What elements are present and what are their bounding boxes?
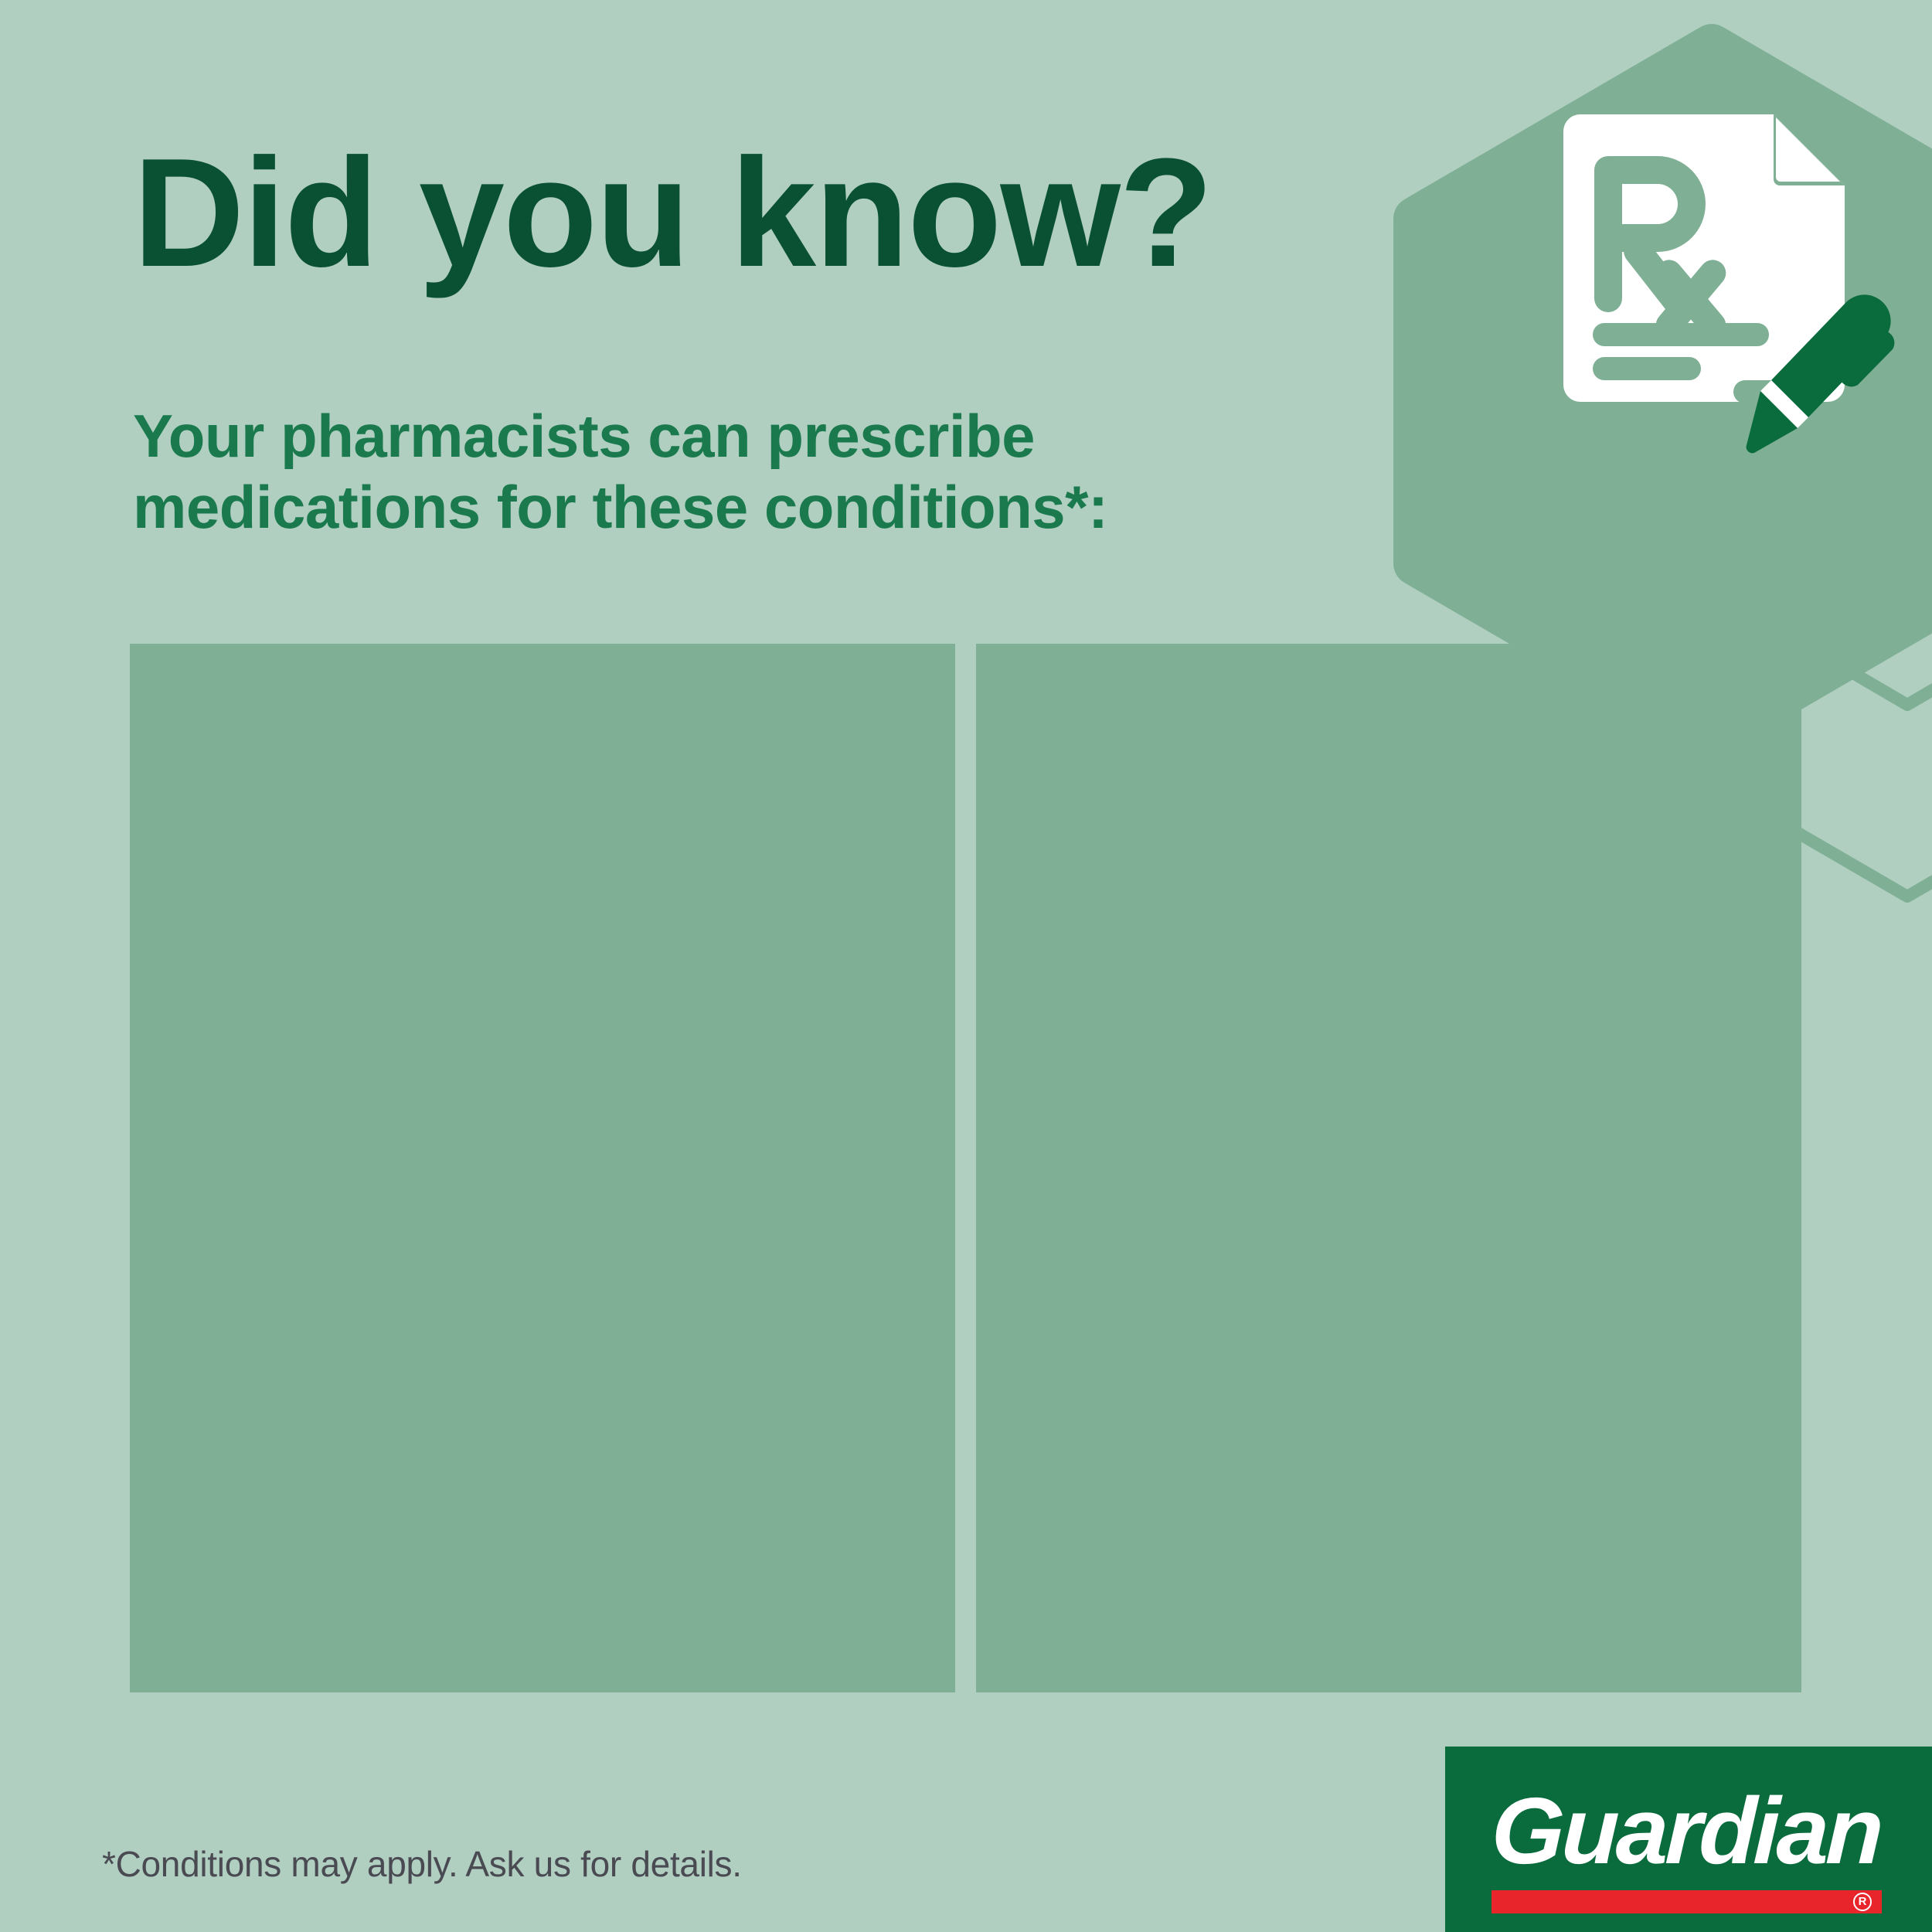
guardian-wordmark: Guardian — [1490, 1784, 1883, 1878]
logo-red-rule — [1492, 1890, 1882, 1913]
guardian-logo: Guardian R — [1445, 1747, 1932, 1932]
footnote-disclaimer: *Conditions may apply. Ask us for detail… — [102, 1843, 742, 1886]
condition-panel-right — [976, 644, 1801, 1692]
document-line-2 — [1593, 357, 1701, 380]
page-subtitle: Your pharmacists can prescribe medicatio… — [133, 400, 1108, 543]
page-title: Did you know? — [133, 136, 1212, 291]
pen-icon — [1717, 284, 1910, 478]
registered-trademark-icon: R — [1853, 1893, 1872, 1911]
condition-panel-left — [130, 644, 955, 1692]
condition-panels — [130, 644, 1801, 1692]
poster-canvas: Did you know? Your pharmacists can presc… — [0, 0, 1932, 1932]
